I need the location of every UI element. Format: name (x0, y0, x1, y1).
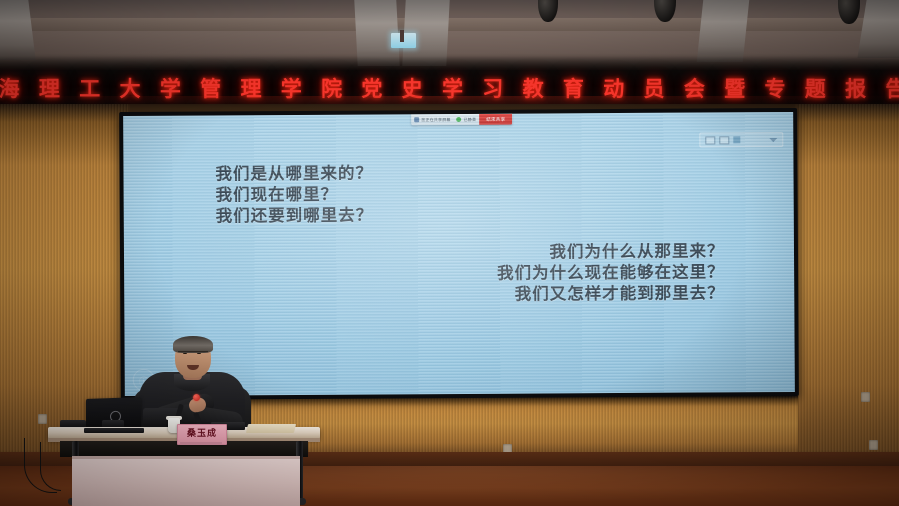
slide-text-block-right: 我们为什么从那里来？ 我们为什么现在能够在这里？ 我们又怎样才能到那里去？ (497, 240, 725, 304)
slide-text-block-left: 我们是从哪里来的？ 我们现在哪里？ 我们还要到哪里去？ (215, 163, 373, 227)
options-icon[interactable] (719, 136, 729, 144)
wall-outlet (869, 440, 878, 450)
ceiling-soffit (0, 18, 899, 31)
monitor-icon (414, 117, 419, 122)
sign-mount (400, 30, 404, 42)
table-modesty-panel (72, 456, 300, 506)
wall-outlet (861, 392, 870, 402)
wall-outlet (38, 414, 47, 424)
desk-papers (246, 424, 296, 433)
ceiling (0, 0, 899, 76)
audio-status-label: 已静音 (464, 117, 477, 121)
slide-line: 我们是从哪里来的？ (215, 163, 373, 185)
table-modesty-trim (72, 456, 300, 459)
party-badge-icon (193, 394, 200, 401)
chevron-down-icon[interactable] (769, 138, 777, 142)
stop-share-button[interactable]: 结束共享 (479, 114, 512, 125)
add-icon[interactable] (733, 136, 740, 143)
share-status-group: 您正在共享屏幕 (411, 114, 453, 125)
ceiling-beam (857, 0, 899, 58)
ceiling-beam (0, 0, 36, 60)
audio-status-group[interactable]: 已静音 (454, 114, 480, 125)
glasses (178, 351, 208, 358)
share-status-label: 您正在共享屏幕 (421, 118, 450, 122)
name-placard-base (180, 442, 222, 445)
slide-line: 我们为什么现在能够在这里？ (497, 261, 725, 283)
view-layout-icon[interactable] (705, 136, 715, 144)
slide-line: 我们现在哪里？ (216, 184, 374, 206)
meeting-share-toolbar[interactable]: 您正在共享屏幕 已静音 结束共享 (411, 114, 512, 126)
wall-right (795, 104, 899, 464)
slide-line: 我们为什么从那里来？ (497, 240, 725, 262)
conference-hall-photo: 上 海 理 工 大 学 管 理 学 院 党 史 学 习 教 育 动 员 会 暨 … (0, 0, 899, 506)
name-placard-text: 桑玉成 (187, 430, 217, 439)
ceiling-beam (697, 0, 750, 62)
laptop-keyboard-base (84, 428, 144, 433)
slide-line: 我们还要到哪里去？ (216, 205, 374, 227)
microphone-icon (457, 117, 462, 122)
screen-view-controls[interactable] (699, 132, 783, 148)
slide-line: 我们又怎样才能到那里去？ (497, 282, 725, 304)
